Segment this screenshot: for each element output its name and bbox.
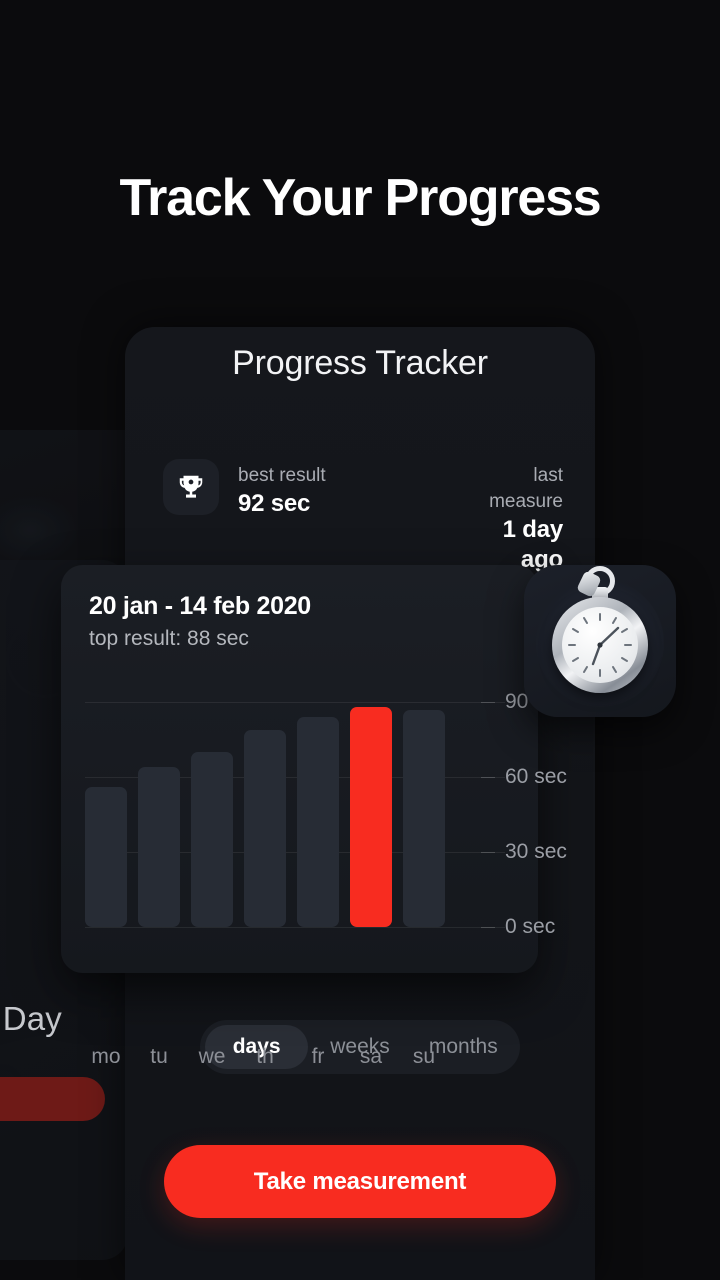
chart-x-label-sa: sa [350, 1045, 392, 1069]
chart-x-label-su: su [403, 1045, 445, 1069]
chart-gridline [85, 927, 505, 928]
chart-x-label-fr: fr [297, 1045, 339, 1069]
chart-x-label-tu: tu [138, 1045, 180, 1069]
chart-y-label: 60 sec [505, 765, 567, 789]
chart-bar-mo[interactable] [85, 787, 127, 927]
bar-chart-plot: 0 sec30 sec60 sec90 sec motuwethfrsasu [85, 677, 505, 927]
background-screen-button[interactable] [0, 1077, 105, 1121]
chart-bars [85, 677, 457, 927]
card-title: Progress Tracker [125, 344, 595, 383]
stopwatch-badge [524, 565, 676, 717]
chart-bar-fr[interactable] [297, 717, 339, 927]
chart-date-range: 20 jan - 14 feb 2020 [89, 592, 311, 621]
chart-bar-th[interactable] [244, 730, 286, 928]
stopwatch-icon [552, 597, 648, 693]
chart-x-axis-labels: motuwethfrsasu [85, 1045, 457, 1071]
chart-card: 20 jan - 14 feb 2020 top result: 88 sec … [61, 565, 538, 973]
chart-bar-we[interactable] [191, 752, 233, 927]
stat-best-label: best result [238, 463, 326, 489]
page-title: Track Your Progress [0, 168, 720, 228]
stat-best-result: best result 92 sec [238, 463, 326, 519]
stopwatch-dial [562, 607, 638, 683]
chart-bar-tu[interactable] [138, 767, 180, 927]
chart-y-label: 0 sec [505, 915, 555, 939]
chart-x-label-th: th [244, 1045, 286, 1069]
stat-last-label: last measure [489, 463, 563, 515]
chart-y-tick [481, 927, 495, 928]
trophy-icon [176, 472, 206, 502]
chart-y-tick [481, 852, 495, 853]
chart-bar-sa[interactable] [350, 707, 392, 927]
chart-y-label: 30 sec [505, 840, 567, 864]
stat-best-value: 92 sec [238, 489, 326, 519]
trophy-icon-tile [163, 459, 219, 515]
chart-bar-su[interactable] [403, 710, 445, 928]
background-screen-title: Day [0, 1000, 62, 1038]
chart-y-tick [481, 702, 495, 703]
chart-top-result: top result: 88 sec [89, 627, 249, 651]
take-measurement-button[interactable]: Take measurement [164, 1145, 556, 1218]
stats-row: best result 92 sec last measure 1 day ag… [163, 459, 563, 517]
chart-y-tick [481, 777, 495, 778]
chart-x-label-mo: mo [85, 1045, 127, 1069]
chart-x-label-we: we [191, 1045, 233, 1069]
stat-last-measure: last measure 1 day ago [489, 463, 563, 575]
stopwatch-face [562, 607, 638, 683]
app-screen: Day Track Your Progress Progress Tracker… [0, 0, 720, 1280]
